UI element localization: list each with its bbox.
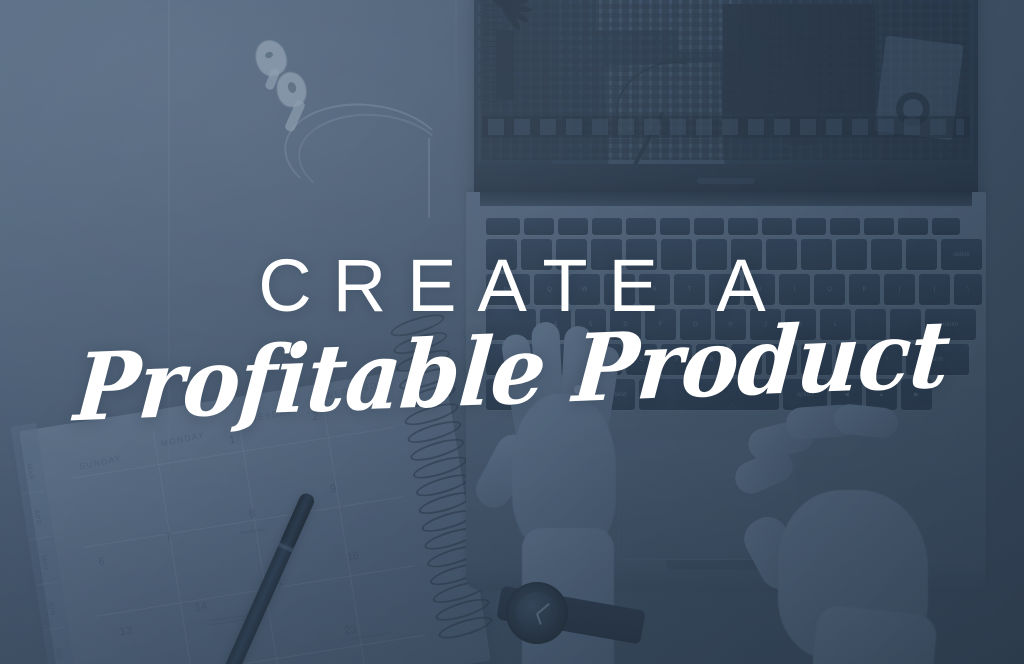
banner-image: MAR APR MAY JUN JUL SUNDAY MONDAY TUESDA… xyxy=(0,0,1024,664)
photo-layer: MAR APR MAY JUN JUL SUNDAY MONDAY TUESDA… xyxy=(0,0,1024,664)
vignette-overlay xyxy=(0,0,1024,664)
